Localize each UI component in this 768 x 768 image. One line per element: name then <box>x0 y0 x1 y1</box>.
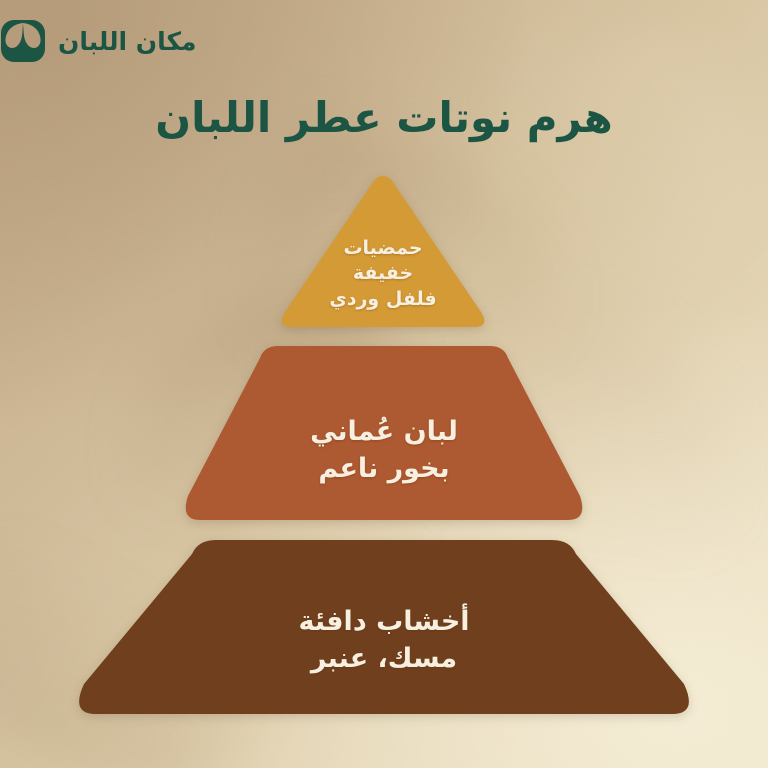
tier-middle-line-1: لبان عُماني <box>310 413 458 450</box>
fragrance-note-pyramid: حمضيات خفيفة فلفل وردي لبان عُماني بخور … <box>0 0 768 768</box>
tier-bottom-line-1: أخشاب دافئة <box>298 603 469 640</box>
tier-bottom-text: أخشاب دافئة مسك، عنبر <box>298 603 469 678</box>
tier-top-line-2: خفيفة <box>329 261 436 287</box>
tier-middle-text: لبان عُماني بخور ناعم <box>310 413 458 488</box>
tier-top-line-1: حمضيات <box>329 236 436 262</box>
tier-bottom-line-2: مسك، عنبر <box>298 640 469 677</box>
tier-top-text: حمضيات خفيفة فلفل وردي <box>329 236 436 313</box>
pyramid-tier-bottom[interactable]: أخشاب دافئة مسك، عنبر <box>70 538 698 716</box>
pyramid-tier-top[interactable]: حمضيات خفيفة فلفل وردي <box>276 172 490 330</box>
infographic-canvas: مكان اللبان هرم نوتات عطر اللبان حمضيات … <box>0 0 768 768</box>
tier-middle-line-2: بخور ناعم <box>310 450 458 487</box>
pyramid-tier-middle[interactable]: لبان عُماني بخور ناعم <box>178 344 590 522</box>
tier-top-line-3: فلفل وردي <box>329 287 436 313</box>
